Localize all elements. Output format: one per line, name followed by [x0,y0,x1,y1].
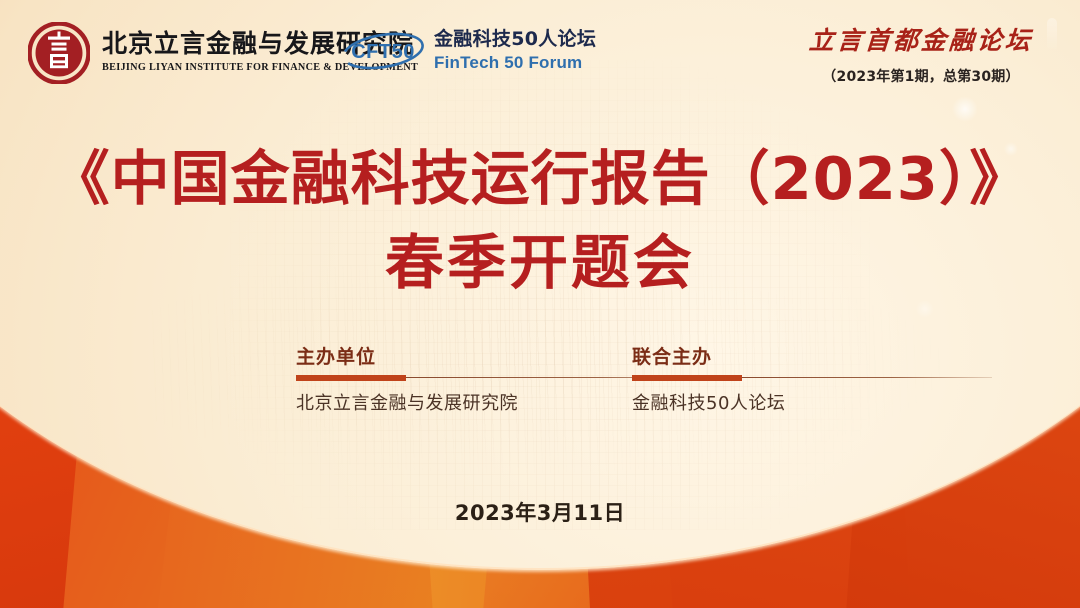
cft50-oval-icon: CFT50 [340,28,426,74]
organizer-host: 主办单位 北京立言金融与发展研究院 [296,346,566,415]
rule-accent-bar [296,375,406,381]
main-title-block: 《中国金融科技运行报告（2023）》 春季开题会 [0,146,1080,296]
event-subtitle: 春季开题会 [0,230,1080,296]
rule-thin-line [742,377,992,378]
forum-title: 立言首都金融论坛 [795,26,1047,56]
liyan-seal-icon [28,22,90,84]
event-date: 2023年3月11日 [0,497,1080,527]
rule-accent-bar [632,375,742,381]
svg-text:CFT50: CFT50 [351,41,415,63]
presentation-slide: 北京立言金融与发展研究院 BEIJING LIYAN INSTITUTE FOR… [0,0,1080,608]
partner-name-en: FinTech 50 Forum [434,53,596,73]
organizer-name: 北京立言金融与发展研究院 [296,392,566,415]
organizer-label: 主办单位 [296,346,566,369]
partner-brand: CFT50 金融科技50人论坛 FinTech 50 Forum [340,28,596,74]
slide-header: 北京立言金融与发展研究院 BEIJING LIYAN INSTITUTE FOR… [0,0,1080,110]
forum-issue-number: （2023年第1期，总第30期） [796,66,1046,86]
organizer-co-host: 联合主办 金融科技50人论坛 [632,346,864,415]
organizer-name: 金融科技50人论坛 [632,392,864,415]
forum-branding: 立言首都金融论坛 （2023年第1期，总第30期） [796,26,1046,86]
report-title: 《中国金融科技运行报告（2023）》 [0,146,1080,212]
partner-name-cn: 金融科技50人论坛 [434,29,596,51]
organizer-rule [632,375,864,381]
organizer-label: 联合主办 [632,346,864,369]
organizer-rule [296,375,566,381]
